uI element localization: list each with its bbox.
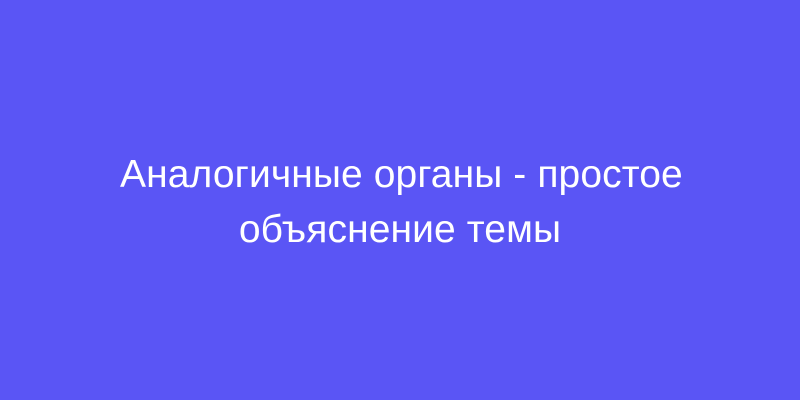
page-title: Аналогичные органы - простое объяснение … [120,147,680,257]
page-title-line-2: объяснение темы [120,202,680,257]
banner-card: Аналогичные органы - простое объяснение … [0,0,800,400]
page-title-line-1: Аналогичные органы - простое [120,147,680,202]
